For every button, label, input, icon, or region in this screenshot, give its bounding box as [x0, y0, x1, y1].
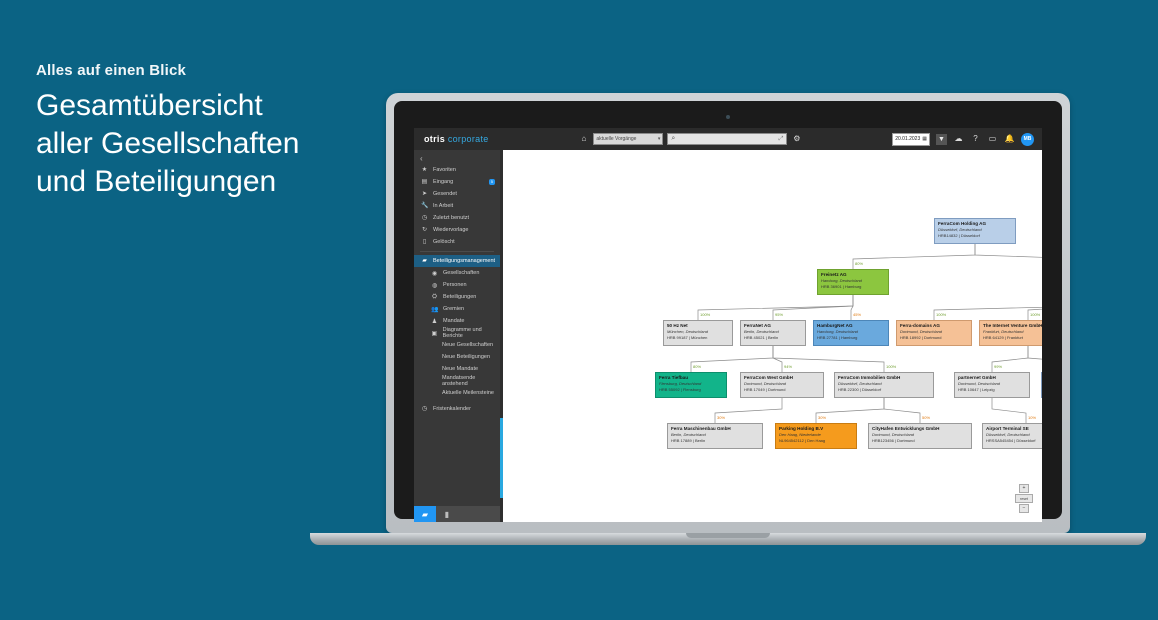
sidebar-item-fristenkalender[interactable]: ◷ Fristenkalender — [414, 403, 500, 415]
org-node-register: HRB 17889 | Berlin — [671, 438, 759, 444]
sidebar-item-label: Beteiligungen — [443, 294, 476, 300]
mandate-icon: ♟ — [431, 318, 438, 325]
filter-icon[interactable]: ▼ — [936, 134, 947, 145]
zoom-out-button[interactable]: − — [1019, 504, 1029, 513]
search-input[interactable]: ⌕ ⤢ — [667, 133, 787, 145]
org-node[interactable]: Ferra Maschinenbau GmbHBerlin, Deutschla… — [667, 423, 763, 449]
sidebar-item-in-arbeit[interactable]: 🔧 In Arbeit — [414, 200, 500, 212]
org-node-register: HRB 10647 | Leipzig — [958, 387, 1026, 393]
org-node[interactable]: Ferra-domains AGDortmund, DeutschlandHRB… — [896, 320, 972, 346]
org-edge — [884, 398, 920, 423]
org-chart: FerraCom Holding AGDüsseldorf, Deutschla… — [503, 150, 1042, 522]
org-node-register: NL964542112 | Den Haag — [779, 438, 853, 444]
refresh-icon: ↻ — [421, 227, 428, 233]
org-edge — [853, 244, 975, 269]
sidebar-item-beteiligungsmanagement[interactable]: ▰ Beteiligungsmanagement — [414, 255, 500, 267]
expand-icon[interactable]: ⤢ — [779, 136, 784, 143]
org-edge — [992, 398, 1026, 423]
chevron-left-icon: ‹ — [420, 154, 423, 163]
org-node[interactable]: CityHafen Entwicklungs GmbHDortmund, Deu… — [868, 423, 972, 449]
sidebar-item-gesellschaften[interactable]: ◉ Gesellschaften — [414, 267, 500, 279]
org-edge — [934, 295, 1042, 320]
date-field[interactable]: 20.01.2023 ▦ — [892, 133, 930, 146]
zoom-reset-button[interactable]: reset — [1015, 494, 1033, 503]
org-node-register: HRB 99187 | München — [667, 335, 729, 341]
bell-icon[interactable]: 🔔 — [1004, 134, 1015, 145]
sidebar-item-label: Gesellschaften — [443, 270, 479, 276]
diagram-canvas[interactable]: FerraCom Holding AGDüsseldorf, Deutschla… — [503, 150, 1042, 522]
clock-icon: ◷ — [421, 215, 428, 221]
sidebar-item-neue-beteiligungen[interactable]: Neue Beteiligungen — [414, 351, 500, 363]
org-node[interactable]: 50 Hz NetMünchen, DeutschlandHRB 99187 |… — [663, 320, 733, 346]
sidebar-item-zuletzt-benutzt[interactable]: ◷ Zuletzt benutzt — [414, 212, 500, 224]
headline-line-2: aller Gesellschaften — [36, 125, 376, 163]
app-toolbar: otris corporate ⌂ aktuelle Vorgänge ▾ ⌕ … — [414, 128, 1042, 150]
org-edge-percent: 100% — [1030, 312, 1040, 317]
org-node[interactable]: FerraCom Immobilien GmbHDüsseldorf, Deut… — [834, 372, 934, 398]
sidebar-item-wiedervorlage[interactable]: ↻ Wiedervorlage — [414, 224, 500, 236]
org-edge-percent: 94% — [784, 364, 792, 369]
sidebar-item-gesendet[interactable]: ➤ Gesendet — [414, 188, 500, 200]
org-edge — [1028, 346, 1042, 372]
brand-secondary: corporate — [448, 134, 489, 144]
calendar-icon[interactable]: ▦ — [922, 136, 927, 142]
org-node-register: HRB 22300 | Düsseldorf — [838, 387, 930, 393]
org-edge-percent: 45% — [853, 312, 861, 317]
inbox-icon: ▤ — [421, 179, 428, 185]
trash-icon: ▯ — [421, 239, 428, 245]
send-icon: ➤ — [421, 191, 428, 197]
sidebar-item-label: Aktuelle Meilensteine — [442, 390, 494, 396]
sidebar-item-label: In Arbeit — [433, 203, 453, 209]
org-node[interactable]: Ferra TiefbauFlensburg, DeutschlandHRB 5… — [655, 372, 727, 398]
org-edge — [975, 244, 1042, 269]
org-edge — [715, 398, 782, 423]
sidebar-item-neue-gesellschaften[interactable]: Neue Gesellschaften — [414, 339, 500, 351]
process-select-value: aktuelle Vorgänge — [596, 136, 657, 142]
org-node[interactable]: Parking Holding B.VDen Haag, Niederlande… — [775, 423, 857, 449]
org-node[interactable]: FerraNet AGBerlin, DeutschlandHRB 45021 … — [740, 320, 806, 346]
sidebar-item-geloescht[interactable]: ▯ Gelöscht — [414, 236, 500, 248]
org-node[interactable]: FerraCom West GmbHDortmund, DeutschlandH… — [740, 372, 824, 398]
sidebar-item-label: Wiedervorlage — [433, 227, 468, 233]
home-icon[interactable]: ⌂ — [578, 134, 589, 145]
org-edge-percent: 100% — [936, 312, 946, 317]
org-node-register: HRB14832 | Düsseldorf — [938, 233, 1012, 239]
company-icon: ◉ — [431, 270, 438, 277]
sidebar-item-favoriten[interactable]: ★ Favoriten — [414, 164, 500, 176]
sidebar-item-label: Diagramme und Berichte — [443, 327, 500, 339]
org-node-register: HRB 18992 | Dortmund — [900, 335, 968, 341]
org-node[interactable]: HamburgNet AGHamburg, DeutschlandHRB 277… — [813, 320, 889, 346]
zoom-in-button[interactable]: + — [1019, 484, 1029, 493]
org-node-register: HRB123456 | Dortmund — [872, 438, 968, 444]
sidebar-item-neue-mandate[interactable]: Neue Mandate — [414, 363, 500, 375]
org-node-register: HRB 17049 | Dortmund — [744, 387, 820, 393]
org-edge-percent: 30% — [818, 415, 826, 420]
org-edge — [691, 346, 773, 372]
clock-icon: ◷ — [421, 406, 428, 412]
sidebar-item-label: Gelöscht — [433, 239, 455, 245]
headline-line-3: und Beteiligungen — [36, 163, 376, 201]
search-icon: ⌕ — [671, 135, 675, 143]
marketing-kicker: Alles auf einen Blick — [36, 62, 376, 79]
org-node[interactable]: FerraCom Holding AGDüsseldorf, Deutschla… — [934, 218, 1016, 244]
org-edge-percent: 100% — [700, 312, 710, 317]
person-icon: ◍ — [431, 282, 438, 289]
org-edge-percent: 80% — [693, 364, 701, 369]
org-edge-percent: 10% — [1028, 415, 1036, 420]
sidebar-item-label: Personen — [443, 282, 467, 288]
app-taskbar: ▰ ▮ — [414, 506, 500, 522]
org-node-register: HRB 64129 | Frankfurt — [983, 335, 1042, 341]
toolbar-center: ⌂ aktuelle Vorgänge ▾ ⌕ ⤢ ⚙ — [578, 133, 802, 145]
wrench-icon: 🔧 — [421, 203, 428, 209]
unread-badge: 5 — [489, 179, 495, 185]
org-node[interactable]: Freinetz AGHamburg, DeutschlandHRB 36901… — [817, 269, 889, 295]
cloud-icon[interactable]: ☁ — [953, 134, 964, 145]
org-edge-percent: 95% — [775, 312, 783, 317]
sidebar-item-label: Gesendet — [433, 191, 457, 197]
org-edge-percent: 80% — [855, 261, 863, 266]
laptop-bezel: otris corporate ⌂ aktuelle Vorgänge ▾ ⌕ … — [394, 101, 1062, 519]
group-icon: 👥 — [431, 306, 438, 313]
sidebar-item-label: Zuletzt benutzt — [433, 215, 469, 221]
sidebar-item-label: Favoriten — [433, 167, 456, 173]
sidebar-item-label: Neue Gesellschaften — [442, 342, 493, 348]
org-node[interactable]: The Internet Venture GmbHFrankfurt, Deut… — [979, 320, 1042, 346]
sidebar-item-personen[interactable]: ◍ Personen — [414, 279, 500, 291]
sidebar-item-label: Mandate — [443, 318, 464, 324]
headline-line-1: Gesamtübersicht — [36, 87, 376, 125]
sidebar: ‹ ★ Favoriten ▤ Eingang 5 ➤ Gesendet — [414, 150, 500, 522]
sidebar-item-mandate[interactable]: ♟ Mandate — [414, 315, 500, 327]
sidebar-item-label: Eingang — [433, 179, 453, 185]
sidebar-item-label: Beteiligungsmanagement — [433, 258, 495, 264]
sidebar-item-beteiligungen[interactable]: ⛭ Beteiligungen — [414, 291, 500, 303]
sidebar-collapse-button[interactable]: ‹ — [414, 152, 500, 164]
laptop-lid: otris corporate ⌂ aktuelle Vorgänge ▾ ⌕ … — [386, 93, 1070, 533]
org-node-register: HRB 55092 | Flensburg — [659, 387, 723, 393]
org-node-register: HRB 36901 | Hamburg — [821, 284, 885, 290]
laptop-screen: otris corporate ⌂ aktuelle Vorgänge ▾ ⌕ … — [414, 128, 1042, 522]
gear-icon[interactable]: ⚙ — [791, 134, 802, 145]
briefcase-icon[interactable]: ▮ — [436, 506, 458, 522]
org-edge-percent: 50% — [922, 415, 930, 420]
sidebar-item-label: Neue Mandate — [442, 366, 478, 372]
chat-icon[interactable]: ▭ — [987, 134, 998, 145]
folder-icon: ▰ — [421, 258, 428, 264]
sidebar-item-label: Fristenkalender — [433, 406, 471, 412]
sidebar-item-eingang[interactable]: ▤ Eingang 5 — [414, 176, 500, 188]
sidebar-divider — [420, 251, 494, 252]
webcam-icon — [726, 115, 730, 119]
org-node[interactable]: partnernet GmbHDortmund, DeutschlandHRB … — [954, 372, 1030, 398]
marketing-copy: Alles auf einen Blick Gesamtübersicht al… — [36, 62, 376, 201]
process-select[interactable]: aktuelle Vorgänge ▾ — [593, 133, 663, 145]
org-edge-percent: 100% — [886, 364, 896, 369]
date-value: 20.01.2023 — [895, 136, 920, 142]
marketing-headline: Gesamtübersicht aller Gesellschaften und… — [36, 87, 376, 201]
help-icon[interactable]: ? — [970, 134, 981, 145]
star-icon: ★ — [421, 167, 428, 173]
org-node[interactable]: InterPre GmbHMannheim, DeutschlandHRB 21… — [1041, 372, 1042, 398]
laptop-mockup: otris corporate ⌂ aktuelle Vorgänge ▾ ⌕ … — [386, 93, 1070, 545]
sidebar-item-diagramme-und-berichte[interactable]: ▣ Diagramme und Berichte — [414, 327, 500, 339]
laptop-notch — [686, 533, 770, 538]
sidebar-item-aktuelle-meilensteine[interactable]: Aktuelle Meilensteine — [414, 387, 500, 399]
org-edge-percent: 30% — [717, 415, 725, 420]
sidebar-item-label: Mandatsende anstehend — [442, 375, 500, 387]
sidebar-item-gremien[interactable]: 👥 Gremien — [414, 303, 500, 315]
org-node[interactable]: Airport Terminal SEDüsseldorf, Deutschla… — [982, 423, 1042, 449]
org-node-register: HRB 27781 | Hamburg — [817, 335, 885, 341]
share-icon: ⛭ — [431, 294, 438, 301]
org-node-register: HRB 45021 | Berlin — [744, 335, 802, 341]
folder-open-icon[interactable]: ▰ — [414, 506, 436, 522]
toolbar-right: 20.01.2023 ▦ ▼ ☁ ? ▭ 🔔 MB — [892, 133, 1034, 146]
chevron-down-icon: ▾ — [658, 136, 661, 142]
chart-icon: ▣ — [431, 330, 438, 337]
zoom-controls: + reset − — [1015, 484, 1033, 513]
org-edge — [773, 346, 782, 372]
app-brand: otris corporate — [424, 134, 489, 144]
org-edge-percent: 99% — [994, 364, 1002, 369]
brand-primary: otris — [424, 134, 445, 144]
avatar[interactable]: MB — [1021, 133, 1034, 146]
org-node-register: HRSSA545454 | Düsseldorf — [986, 438, 1042, 444]
org-edge — [816, 398, 884, 423]
sidebar-item-label: Neue Beteiligungen — [442, 354, 490, 360]
sidebar-item-mandatsende-anstehend[interactable]: Mandatsende anstehend — [414, 375, 500, 387]
sidebar-item-label: Gremien — [443, 306, 464, 312]
